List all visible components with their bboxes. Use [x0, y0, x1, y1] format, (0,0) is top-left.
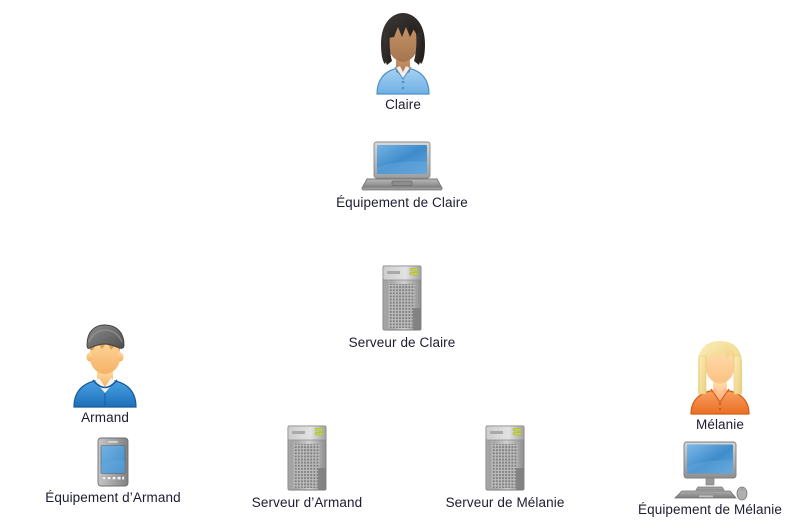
node-melanie-device[interactable]: Équipement de Mélanie [620, 441, 800, 518]
desktop-computer-icon [670, 441, 750, 499]
node-label: Serveur de Claire [349, 335, 456, 351]
user-avatar-icon [371, 10, 435, 94]
user-avatar-icon [70, 323, 140, 407]
node-label: Serveur de Mélanie [446, 495, 565, 511]
node-armand-person[interactable]: Armand [68, 323, 142, 426]
node-label: Équipement de Mélanie [638, 502, 782, 518]
laptop-icon [361, 140, 443, 192]
server-tower-icon [483, 424, 527, 492]
node-label: Équipement de Claire [336, 195, 468, 211]
node-label: Armand [81, 410, 129, 426]
node-melanie-server[interactable]: Serveur de Mélanie [425, 424, 585, 511]
node-claire-device[interactable]: Équipement de Claire [322, 140, 482, 211]
node-melanie-person[interactable]: Mélanie [684, 340, 756, 433]
node-label: Équipement d’Armand [45, 490, 180, 506]
node-claire-person[interactable]: Claire [371, 10, 435, 113]
server-tower-icon [285, 424, 329, 492]
node-label: Claire [385, 97, 421, 113]
server-tower-icon [380, 264, 424, 332]
node-armand-server[interactable]: Serveur d’Armand [227, 424, 387, 511]
node-label: Mélanie [696, 417, 744, 433]
node-label: Serveur d’Armand [252, 495, 362, 511]
node-claire-server[interactable]: Serveur de Claire [322, 264, 482, 351]
network-diagram-canvas: Claire [0, 0, 800, 529]
user-avatar-icon [687, 340, 753, 414]
smartphone-icon [97, 437, 129, 487]
node-armand-device[interactable]: Équipement d’Armand [25, 437, 201, 506]
